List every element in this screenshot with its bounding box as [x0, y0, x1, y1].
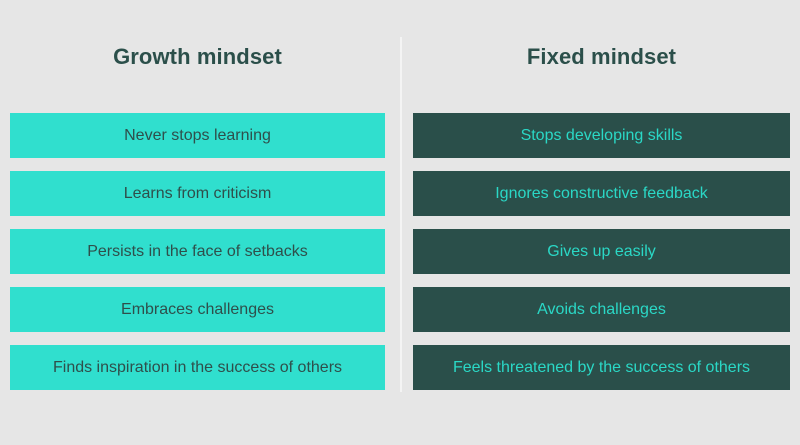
column-divider [400, 37, 402, 392]
growth-mindset-item[interactable]: Never stops learning [10, 113, 385, 158]
growth-mindset-item[interactable]: Embraces challenges [10, 287, 385, 332]
fixed-mindset-item[interactable]: Feels threatened by the success of other… [413, 345, 790, 390]
growth-mindset-column: Growth mindset Never stops learning Lear… [0, 0, 400, 445]
fixed-mindset-item[interactable]: Avoids challenges [413, 287, 790, 332]
fixed-mindset-bar-list: Stops developing skills Ignores construc… [413, 113, 790, 390]
growth-mindset-bar-list: Never stops learning Learns from critici… [10, 113, 385, 390]
fixed-mindset-heading: Fixed mindset [413, 0, 790, 113]
fixed-mindset-item[interactable]: Stops developing skills [413, 113, 790, 158]
fixed-mindset-item[interactable]: Ignores constructive feedback [413, 171, 790, 216]
growth-mindset-item[interactable]: Persists in the face of setbacks [10, 229, 385, 274]
growth-mindset-item[interactable]: Finds inspiration in the success of othe… [10, 345, 385, 390]
mindset-comparison-board: Growth mindset Never stops learning Lear… [0, 0, 800, 445]
growth-mindset-heading: Growth mindset [10, 0, 385, 113]
fixed-mindset-column: Fixed mindset Stops developing skills Ig… [400, 0, 800, 445]
growth-mindset-item[interactable]: Learns from criticism [10, 171, 385, 216]
fixed-mindset-item[interactable]: Gives up easily [413, 229, 790, 274]
